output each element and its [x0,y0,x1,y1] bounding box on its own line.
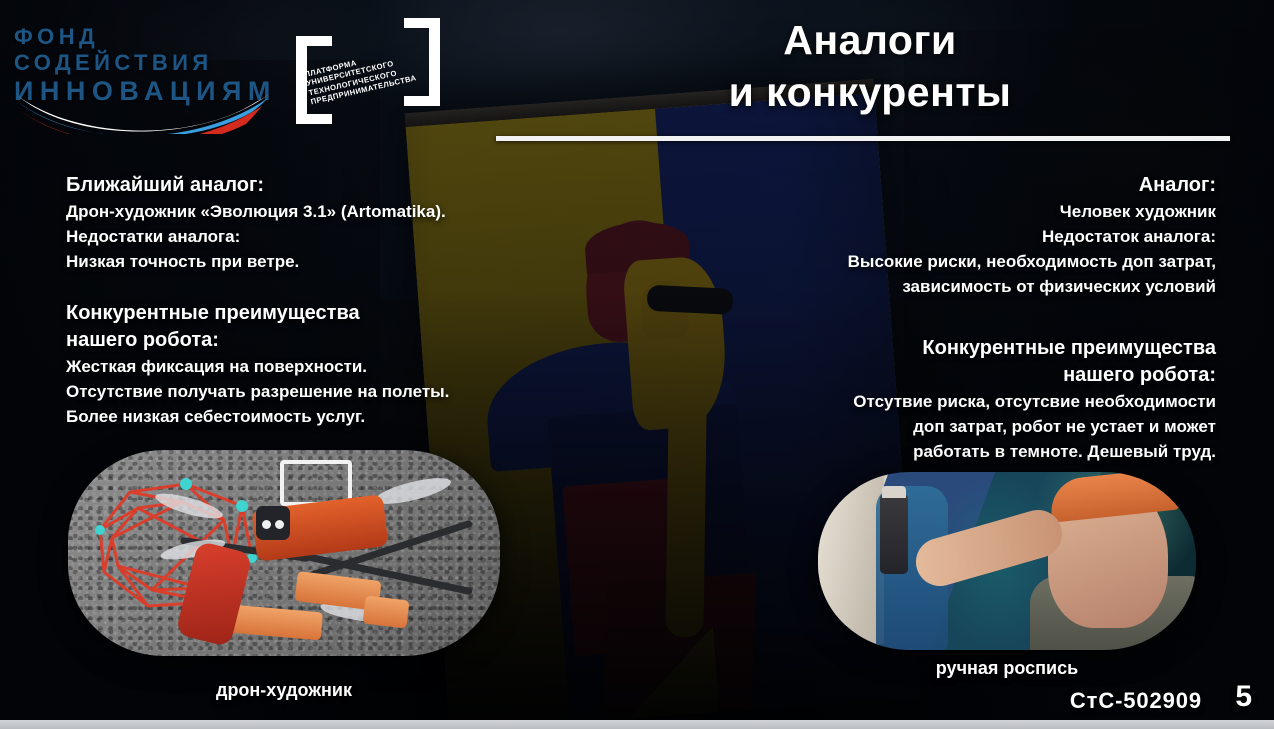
project-code: СтС-502909 [1070,688,1202,714]
left-block1-line2: Недостатки аналога: [66,224,586,249]
right-block2-line1: Отсутвие риска, отсутсвие необходимости [656,389,1216,414]
left-block1-heading: Ближайший аналог: [66,172,586,199]
left-block1-line3: Низкая точность при ветре. [66,249,586,274]
drone-camera [256,506,290,540]
fund-logo-line1: ФОНД СОДЕЙСТВИЯ [14,24,276,76]
left-text-column: Ближайший аналог: Дрон-художник «Эволюци… [66,172,586,429]
hand-painting-photo [818,472,1196,650]
spray-can-cap [882,486,906,498]
drone-photo-caption: дрон-художник [68,680,500,701]
slide-title: Аналоги и конкуренты [500,14,1240,118]
right-block2-heading-line1: Конкурентные преимущества [656,335,1216,362]
left-block1-line1: Дрон-художник «Эволюция 3.1» (Artomatika… [66,199,586,224]
drone-photo [68,450,500,656]
page-number: 5 [1235,680,1252,714]
platform-logo: ПЛАТФОРМА УНИВЕРСИТЕТСКОГО ТЕХНОЛОГИЧЕСК… [288,14,448,140]
hand-photo-caption: ручная роспись [818,658,1196,679]
fund-logo: ФОНД СОДЕЙСТВИЯ ИННОВАЦИЯМ [14,24,276,132]
drone-protective-cage-icon [82,468,272,618]
left-block2-heading-line1: Конкурентные преимущества [66,300,586,327]
left-block2-line2: Отсутствие получать разрешение на полеты… [66,379,586,404]
slide-title-line1: Аналоги [500,14,1240,66]
left-block2-heading-line2: нашего робота: [66,327,586,354]
right-block2-heading-line2: нашего робота: [656,362,1216,389]
title-divider-rule [496,136,1230,141]
right-block2-line2: доп затрат, робот не устает и может [656,414,1216,439]
spray-can [880,494,908,574]
bottom-strip [0,720,1274,729]
right-block2-line3: работать в темноте. Дешевый труд. [656,439,1216,464]
right-text-column: Аналог: Человек художник Недостаток анал… [656,172,1216,464]
right-block1-line3: Высокие риски, необходимость доп затрат, [656,249,1216,274]
right-block1-heading: Аналог: [656,172,1216,199]
slide-analogues-and-competitors: ФОНД СОДЕЙСТВИЯ ИННОВАЦИЯМ ПЛАТФОРМА УНИ… [0,0,1274,729]
russian-tricolor-swoosh-icon [16,86,276,134]
right-block1-line1: Человек художник [656,199,1216,224]
left-block2-line1: Жесткая фиксация на поверхности. [66,354,586,379]
painted-wall [818,472,884,650]
left-block2-line3: Более низкая себестоимость услуг. [66,404,586,429]
slide-title-line2: и конкуренты [500,66,1240,118]
right-block1-line2: Недостаток аналога: [656,224,1216,249]
right-block1-line4: зависимость от физических условий [656,274,1216,299]
